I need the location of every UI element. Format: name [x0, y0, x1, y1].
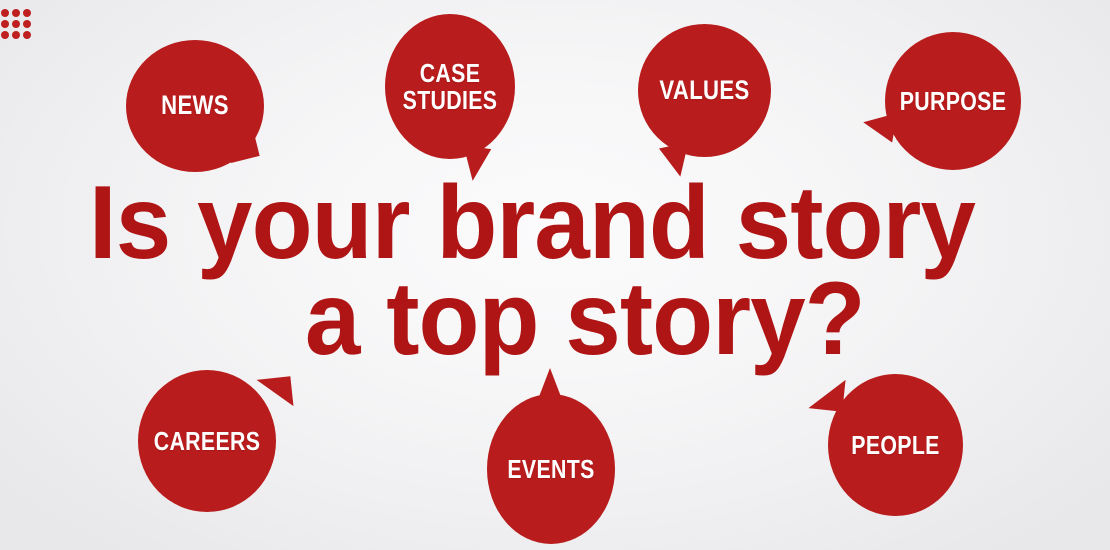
logo-dot	[23, 20, 31, 28]
speech-bubble-people[interactable]: PEOPLE	[828, 374, 963, 516]
speech-bubble-news[interactable]: NEWS	[126, 40, 264, 172]
logo-dot	[1, 31, 9, 39]
speech-bubble-body	[828, 374, 963, 516]
dot-grid-logo[interactable]	[0, 9, 36, 41]
headline-line-1: Is your brand story	[22, 176, 1088, 272]
speech-bubble-events[interactable]: EVENTS	[487, 394, 615, 544]
logo-dot	[12, 31, 20, 39]
speech-bubble-body	[638, 24, 771, 157]
speech-bubble-careers[interactable]: CAREERS	[138, 370, 276, 512]
logo-dot	[1, 9, 9, 17]
speech-bubble-body	[487, 394, 615, 544]
speech-bubble-values[interactable]: VALUES	[638, 24, 771, 157]
speech-bubble-case-studies[interactable]: CASE STUDIES	[385, 14, 515, 159]
speech-bubble-body	[885, 32, 1021, 170]
logo-dot	[12, 9, 20, 17]
speech-bubble-body	[385, 14, 515, 159]
logo-dot	[23, 31, 31, 39]
speech-bubble-body	[126, 40, 264, 172]
logo-dot	[23, 9, 31, 17]
speech-bubble-purpose[interactable]: PURPOSE	[885, 32, 1021, 170]
headline-line-2: a top story?	[22, 272, 1088, 368]
logo-dot	[12, 20, 20, 28]
logo-dot	[1, 20, 9, 28]
promo-banner: NEWS CASE STUDIES VALUES PURPOSE Is your…	[0, 0, 1110, 550]
headline: Is your brand story a top story?	[0, 176, 1110, 367]
speech-bubble-body	[138, 370, 276, 512]
